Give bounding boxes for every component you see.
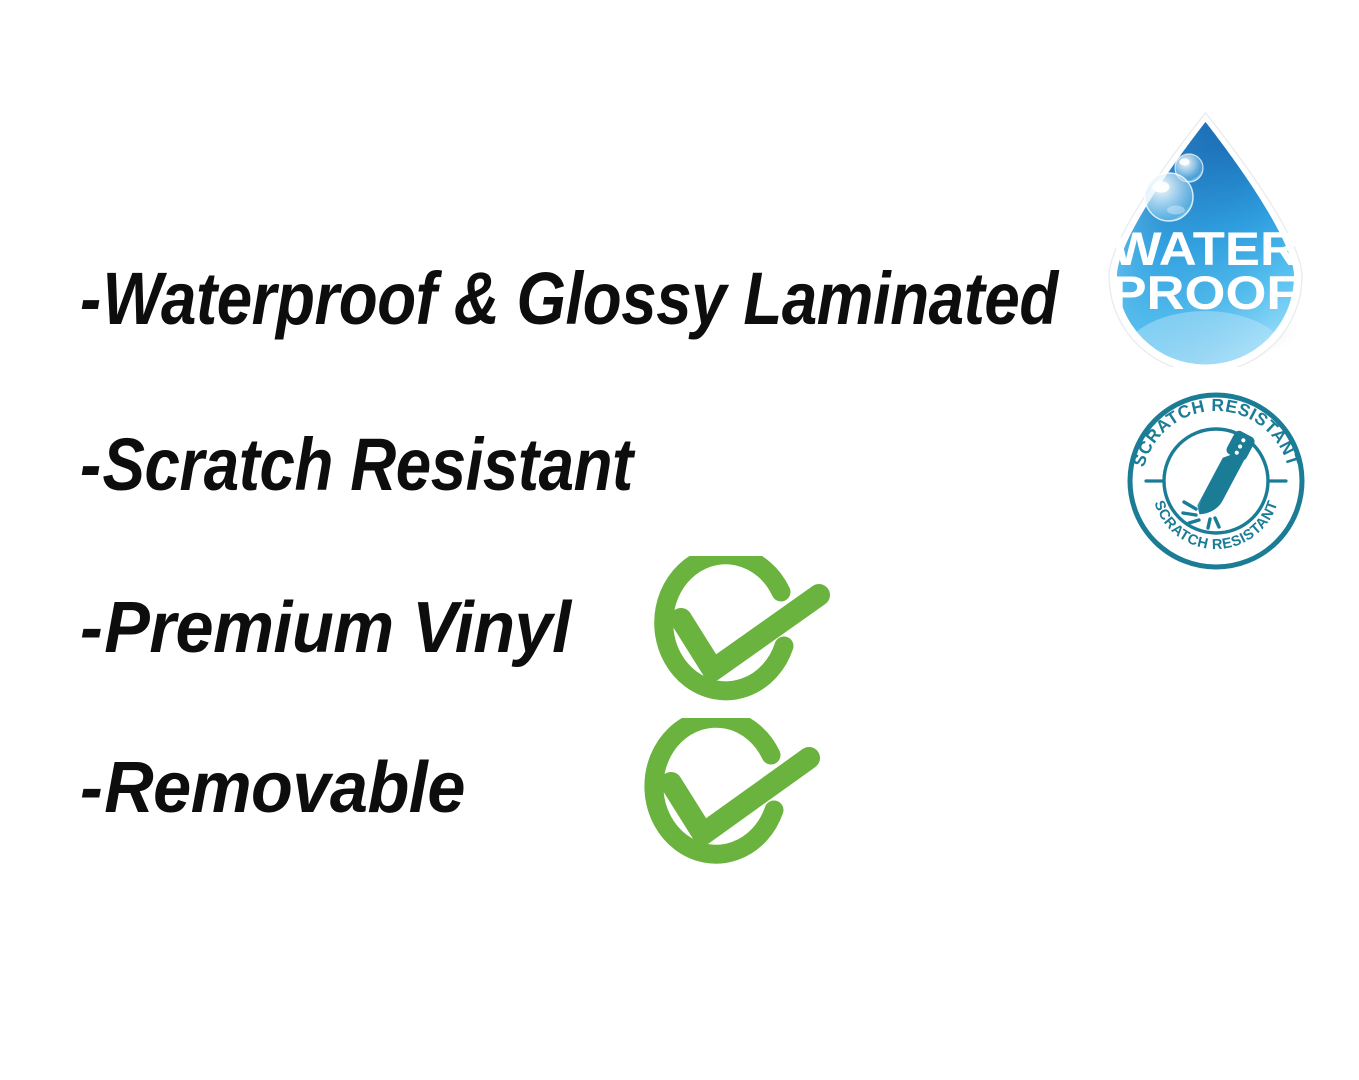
knife-icon: [1193, 429, 1256, 521]
bullet-dash: -: [80, 592, 102, 664]
bullet-dash: -: [80, 428, 101, 502]
stamp-arc-text-top: SCRATCH RESISTANT: [1129, 395, 1304, 469]
green-check-circle-icon: [636, 556, 841, 716]
check-tick: [671, 758, 809, 834]
scratch-resistant-badge: SCRATCH RESISTANT SCRATCH RESISTANT: [1122, 387, 1310, 575]
feature-item-scratch-resistant: -Scratch Resistant: [80, 428, 633, 502]
feature-item-waterproof-glossy-laminated: -Waterproof & Glossy Laminated: [80, 262, 1058, 336]
waterproof-badge: WATER PROOF: [1098, 105, 1313, 367]
green-check-circle-icon: [626, 718, 831, 880]
feature-list-graphic: -Waterproof & Glossy Laminated -Scratch …: [0, 0, 1359, 1080]
feature-item-removable: -Removable: [80, 752, 465, 824]
check-tick: [681, 595, 819, 670]
waterproof-line-2: PROOF: [1111, 267, 1298, 320]
feature-label: Waterproof & Glossy Laminated: [102, 257, 1057, 340]
feature-item-premium-vinyl: -Premium Vinyl: [80, 592, 571, 664]
feature-label: Scratch Resistant: [102, 423, 632, 506]
bubble-large: [1145, 173, 1193, 221]
bullet-dash: -: [80, 752, 102, 824]
feature-label: Removable: [104, 748, 465, 828]
bullet-dash: -: [80, 262, 101, 336]
feature-label: Premium Vinyl: [104, 588, 570, 668]
